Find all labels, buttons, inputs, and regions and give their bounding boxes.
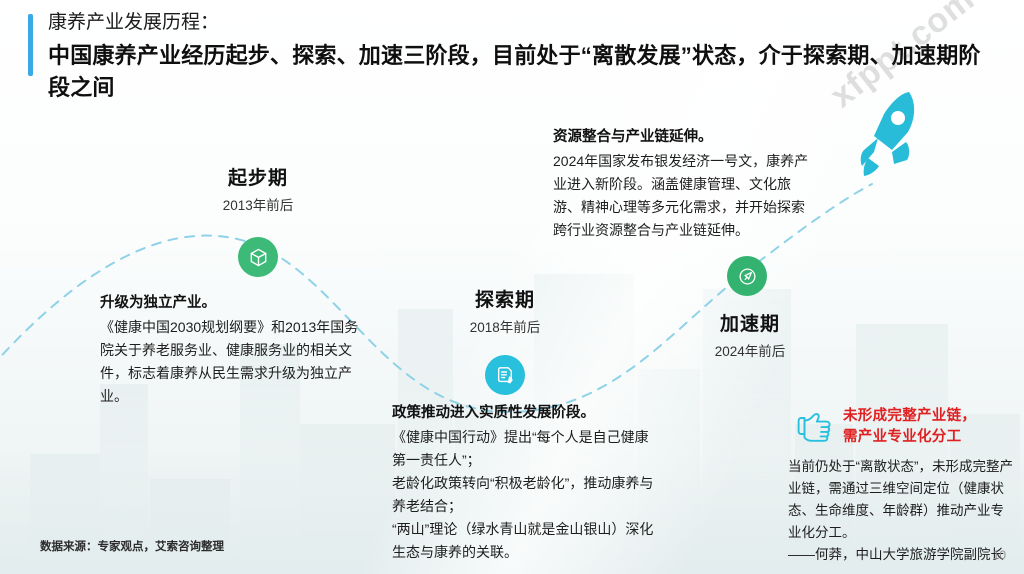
document-edit-icon <box>495 365 516 386</box>
text-block-exploration: 政策推动进入实质性发展阶段。 《健康中国行动》提出“每个人是自己健康第一责任人”… <box>392 402 660 564</box>
stage-name: 起步期 <box>168 166 348 192</box>
highlight-headline-line1: 未形成完整产业链， <box>843 406 1021 427</box>
text-block-acceleration: 资源整合与产业链延伸。 2024年国家发布银发经济一号文，康养产业进入新阶段。涵… <box>553 126 811 242</box>
stage-node-startup[interactable] <box>238 237 278 277</box>
stage-name: 加速期 <box>660 312 840 338</box>
block-title: 升级为独立产业。 <box>100 292 362 315</box>
page-number: 10 <box>993 548 1006 562</box>
paper-plane-icon <box>737 266 758 287</box>
stage-year: 2013年前后 <box>168 195 348 217</box>
text-block-startup: 升级为独立产业。 《健康中国2030规划纲要》和2013年国务院关于养老服务业、… <box>100 292 362 408</box>
pointing-hand-icon <box>797 408 837 444</box>
block-title: 政策推动进入实质性发展阶段。 <box>392 402 660 425</box>
block-body: 《健康中国2030规划纲要》和2013年国务院关于养老服务业、健康服务业的相关文… <box>100 316 362 408</box>
slide-canvas: xfppt.com 康养产业发展历程： 中国康养产业经历起步、探索、加速三阶段，… <box>0 0 1024 574</box>
stage-year: 2024年前后 <box>660 341 840 363</box>
block-body: 2024年国家发布银发经济一号文，康养产业进入新阶段。涵盖健康管理、文化旅游、精… <box>553 150 811 242</box>
highlight-headline: 未形成完整产业链， 需产业专业化分工 <box>843 406 1021 448</box>
rocket-icon <box>852 86 930 178</box>
title-accent-bar <box>28 14 33 76</box>
highlight-body: 当前仍处于“离散状态”，未形成完整产业链，需通过三维空间定位（健康状态、生命维度… <box>788 456 1016 566</box>
stage-node-exploration[interactable] <box>485 355 525 395</box>
highlight-body-text: 当前仍处于“离散状态”，未形成完整产业链，需通过三维空间定位（健康状态、生命维度… <box>788 459 1013 540</box>
block-title: 资源整合与产业链延伸。 <box>553 126 811 149</box>
stage-year: 2018年前后 <box>415 317 595 339</box>
slide-kicker: 康养产业发展历程： <box>48 8 1008 38</box>
stage-name: 探索期 <box>415 288 595 314</box>
cube-icon <box>248 247 269 268</box>
stage-node-acceleration[interactable] <box>727 256 767 296</box>
source-note: 数据来源：专家观点，艾索咨询整理 <box>40 538 224 554</box>
block-body: 《健康中国行动》提出“每个人是自己健康第一责任人”； 老龄化政策转向“积极老龄化… <box>392 426 660 564</box>
highlight-headline-line2: 需产业专业化分工 <box>843 427 1021 448</box>
stage-label-startup: 起步期 2013年前后 <box>168 166 348 217</box>
highlight-attribution: ——何莽，中山大学旅游学院副院长 <box>788 547 1004 562</box>
stage-label-acceleration: 加速期 2024年前后 <box>660 312 840 363</box>
stage-label-exploration: 探索期 2018年前后 <box>415 288 595 339</box>
